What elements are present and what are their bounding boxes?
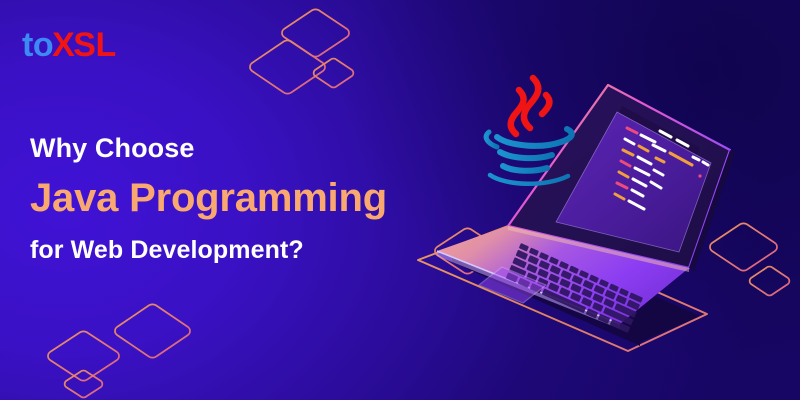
headline-line-1: Why Choose: [30, 131, 387, 166]
logo-text-sl: SL: [73, 28, 115, 62]
banner: toXSL Why Choose Java Programming for We…: [0, 0, 800, 400]
headline-block: Why Choose Java Programming for Web Deve…: [30, 131, 387, 267]
logo-text-x: X: [52, 28, 74, 62]
java-steam-icon: [511, 78, 550, 134]
logo-text-to: to: [22, 28, 53, 62]
headline-line-2: Java Programming: [30, 172, 387, 225]
brand-logo[interactable]: toXSL: [22, 28, 116, 62]
headline-line-3: for Web Development?: [30, 234, 387, 267]
